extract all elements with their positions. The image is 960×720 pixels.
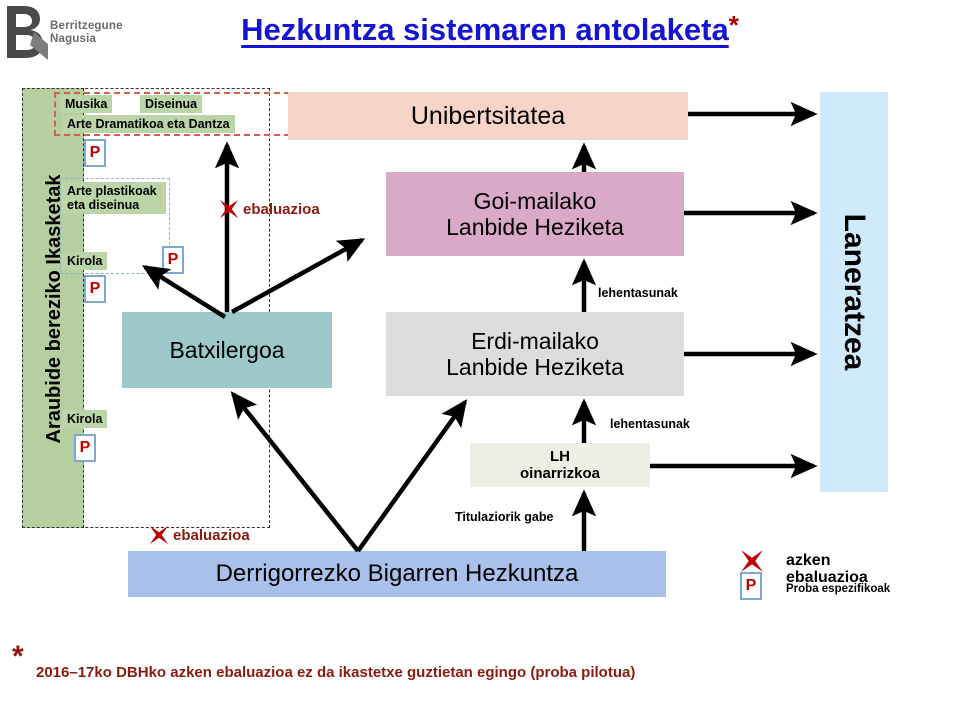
annotation-titulaziorik-gabe: Titulaziorik gabe xyxy=(455,510,553,524)
evaluation-marker-upper: ebaluazioa xyxy=(218,198,320,220)
box-dbh-label: Derrigorrezko Bigarren Hezkuntza xyxy=(216,560,579,587)
footnote-text: 2016–17ko DBHko azken ebaluazioa ez da i… xyxy=(36,664,635,681)
red-x-star-icon xyxy=(738,548,766,574)
special-item-arte-dramatikoa[interactable]: Arte Dramatikoa eta Dantza xyxy=(62,115,235,133)
box-erdi-mailako-lanbide-heziketa[interactable]: Erdi-mailako Lanbide Heziketa xyxy=(386,312,684,396)
box-derrigorrezko-bigarren-hezkuntza[interactable]: Derrigorrezko Bigarren Hezkuntza xyxy=(128,551,666,597)
box-batxilergoa[interactable]: Batxilergoa xyxy=(122,312,332,388)
page-title-wrap: Hezkuntza sistemaren antolaketa* xyxy=(150,10,830,48)
special-item-kirola-lower[interactable]: Kirola xyxy=(62,410,107,428)
red-x-star-icon xyxy=(218,198,240,220)
box-unibertsitatea-label: Unibertsitatea xyxy=(411,102,565,131)
legend-final-evaluation-label: azken ebaluazioa xyxy=(786,552,868,586)
box-erdi-line-2: Lanbide Heziketa xyxy=(446,354,624,380)
box-laneratzea[interactable]: Laneratzea xyxy=(820,92,888,492)
p-marker-icon-2: P xyxy=(162,246,184,274)
logo-line-1: Berritzegune xyxy=(50,20,123,33)
title-footnote-marker: * xyxy=(729,10,739,41)
p-marker-icon-3: P xyxy=(84,275,106,303)
logo-text: Berritzegune Nagusia xyxy=(50,20,123,46)
special-item-musika[interactable]: Musika xyxy=(60,95,112,113)
legend: P azken ebaluazioa Proba espezifikoak xyxy=(734,548,954,610)
red-x-star-icon xyxy=(148,524,170,546)
p-marker-icon-1: P xyxy=(84,139,106,167)
box-goi-mailako-lanbide-heziketa[interactable]: Goi-mailako Lanbide Heziketa xyxy=(386,172,684,256)
box-goi-line-1: Goi-mailako xyxy=(446,188,624,214)
annotation-lehentasunak-lower: lehentasunak xyxy=(610,417,690,431)
legend-p-marker-icon: P xyxy=(740,572,762,600)
page-title: Hezkuntza sistemaren antolaketa xyxy=(241,12,729,48)
legend-specific-tests-label: Proba espezifikoak xyxy=(786,583,890,595)
annotation-lehentasunak-upper: lehentasunak xyxy=(598,286,678,300)
box-laneratzea-label: Laneratzea xyxy=(820,92,888,492)
evaluation-label-upper: ebaluazioa xyxy=(243,201,320,218)
special-item-diseinua[interactable]: Diseinua xyxy=(140,95,202,113)
legend-final-evaluation-line-1: azken xyxy=(786,552,868,569)
berritzegune-logo: Berritzegune Nagusia xyxy=(4,4,154,62)
evaluation-label-lower: ebaluazioa xyxy=(173,527,250,544)
special-regime-band: Araubide bereziko Ikasketak xyxy=(22,88,84,528)
p-marker-icon-4: P xyxy=(74,434,96,462)
box-lh-oinarrizkoa[interactable]: LH oinarrizkoa xyxy=(470,443,650,487)
diagram-canvas: Berritzegune Nagusia Hezkuntza sistemare… xyxy=(0,0,960,720)
box-batxilergoa-label: Batxilergoa xyxy=(169,337,284,363)
box-unibertsitatea[interactable]: Unibertsitatea xyxy=(288,92,688,140)
arrow-dbh-to-erdi-mailako xyxy=(358,402,465,551)
box-lh-line-1: LH xyxy=(520,448,600,465)
logo-line-2: Nagusia xyxy=(50,33,123,46)
box-lh-line-2: oinarrizkoa xyxy=(520,465,600,482)
special-item-kirola-upper[interactable]: Kirola xyxy=(62,252,107,270)
special-regime-vertical-label: Araubide bereziko Ikasketak xyxy=(23,89,85,529)
special-item-arte-plastikoak[interactable]: Arte plastikoak eta diseinua xyxy=(62,182,166,214)
box-erdi-line-1: Erdi-mailako xyxy=(446,328,624,354)
box-goi-line-2: Lanbide Heziketa xyxy=(446,214,624,240)
footnote-marker: * xyxy=(12,640,24,674)
b-monogram-icon xyxy=(4,4,48,60)
evaluation-marker-lower: ebaluazioa xyxy=(148,524,250,546)
